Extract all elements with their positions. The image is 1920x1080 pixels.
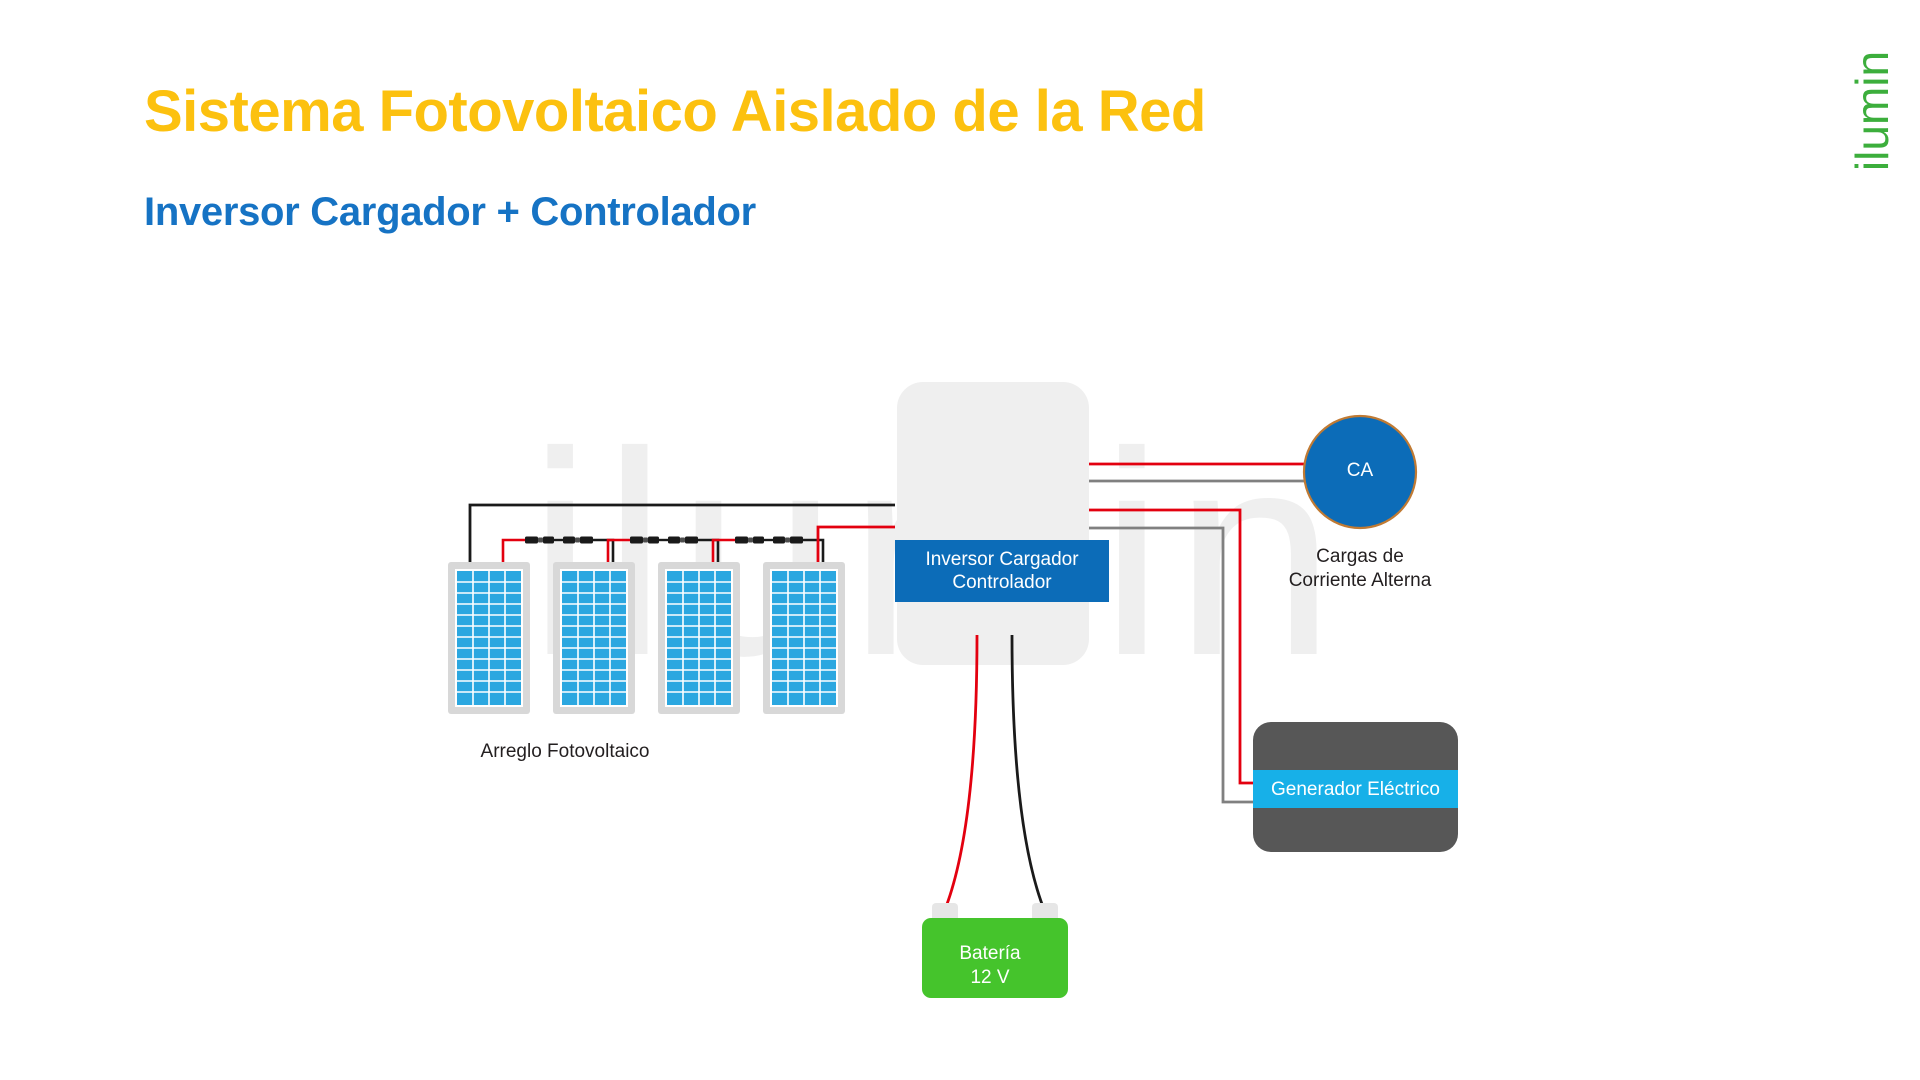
ac-loads-caption: Cargas de Corriente Alterna — [1250, 545, 1470, 593]
pv-panel-4[interactable] — [763, 562, 845, 714]
ac-loads-node[interactable] — [1304, 416, 1416, 528]
inverter-charger-controller[interactable] — [897, 382, 1089, 665]
pv-panel-1[interactable] — [448, 562, 530, 714]
pv-to-inverter-wiring — [470, 505, 895, 562]
mc4-connector-3 — [735, 537, 803, 544]
inverter-to-battery-wiring — [944, 635, 1045, 912]
slide-canvas: Sistema Fotovoltaico Aislado de la Red I… — [0, 0, 1920, 1080]
mc4-connector-1 — [525, 537, 593, 544]
battery-node[interactable] — [922, 903, 1068, 998]
pv-panel-3[interactable] — [658, 562, 740, 714]
pv-array[interactable] — [448, 562, 845, 714]
electric-generator-node[interactable] — [1253, 722, 1458, 852]
system-diagram — [0, 0, 1920, 1080]
pv-interconnect-wiring — [503, 537, 823, 563]
mc4-connector-2 — [630, 537, 698, 544]
inverter-to-generator-wiring — [1089, 510, 1270, 802]
pv-panel-2[interactable] — [553, 562, 635, 714]
pv-array-caption: Arreglo Fotovoltaico — [400, 740, 730, 764]
